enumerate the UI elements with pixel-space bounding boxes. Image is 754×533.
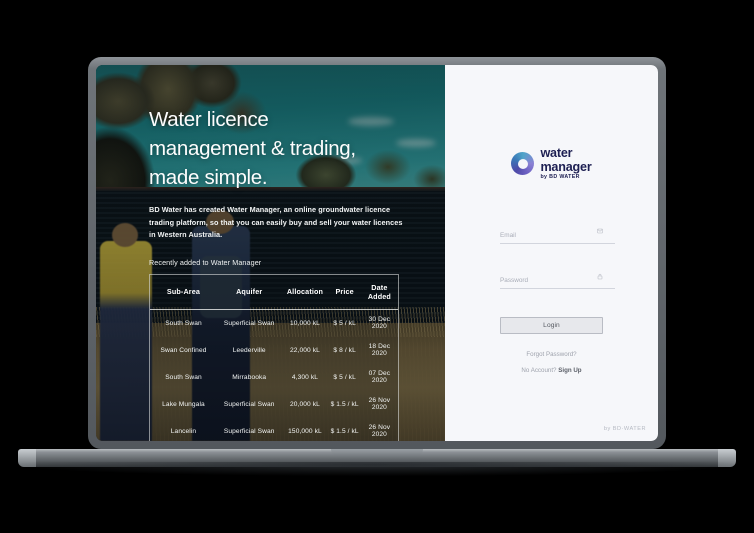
cell-date-added: 18 Dec 2020 bbox=[361, 337, 398, 364]
lock-icon bbox=[597, 267, 603, 285]
table-row[interactable]: Swan Confined Leederville 22,000 kL $ 8 … bbox=[150, 337, 398, 364]
table-header-row: Sub-Area Aquifer Allocation Price Date A… bbox=[150, 275, 398, 310]
cell-aquifer: Leederville bbox=[217, 337, 281, 364]
recent-licences-table: Sub-Area Aquifer Allocation Price Date A… bbox=[149, 274, 399, 441]
login-panel: water manager by BD WATER bbox=[445, 65, 658, 441]
screenshot-canvas: Water licence management & trading, made… bbox=[0, 0, 754, 533]
sign-up-link[interactable]: Sign Up bbox=[558, 367, 581, 374]
laptop-screen: Water licence management & trading, made… bbox=[96, 65, 658, 441]
no-account-signup-row[interactable]: No Account? Sign Up bbox=[521, 367, 581, 374]
password-field-wrapper bbox=[500, 269, 603, 289]
hero-content: Water licence management & trading, made… bbox=[96, 65, 445, 441]
cell-aquifer: Mirrabooka bbox=[217, 364, 281, 391]
cell-price: $ 8 / kL bbox=[329, 337, 361, 364]
email-field-wrapper bbox=[500, 224, 603, 244]
cell-aquifer: Superficial Swan bbox=[217, 309, 281, 337]
laptop-mockup: Water licence management & trading, made… bbox=[88, 57, 666, 449]
cell-allocation: 150,000 kL bbox=[281, 418, 328, 441]
table-row[interactable]: Lake Mungala Superficial Swan 20,000 kL … bbox=[150, 391, 398, 418]
cell-sub-area: South Swan bbox=[150, 309, 217, 337]
page-title: Water licence management & trading, made… bbox=[149, 105, 421, 192]
cell-price: $ 1.5 / kL bbox=[329, 391, 361, 418]
column-header-allocation: Allocation bbox=[281, 275, 328, 310]
no-account-label: No Account? bbox=[521, 367, 558, 374]
cell-allocation: 20,000 kL bbox=[281, 391, 328, 418]
cell-date-added: 07 Dec 2020 bbox=[361, 364, 398, 391]
recently-added-label: Recently added to Water Manager bbox=[149, 258, 421, 267]
column-header-date-added: Date Added bbox=[361, 275, 398, 310]
headline-line-1: Water licence bbox=[149, 108, 269, 131]
logo-word-manager: manager bbox=[540, 161, 591, 174]
cell-sub-area: Lake Mungala bbox=[150, 391, 217, 418]
logo-word-water: water bbox=[540, 147, 591, 160]
laptop-drop-shadow bbox=[20, 462, 734, 476]
cell-sub-area: Swan Confined bbox=[150, 337, 217, 364]
column-header-price: Price bbox=[329, 275, 361, 310]
table-row[interactable]: South Swan Superficial Swan 10,000 kL $ … bbox=[150, 309, 398, 337]
cell-date-added: 30 Dec 2020 bbox=[361, 309, 398, 337]
table-row[interactable]: South Swan Mirrabooka 4,300 kL $ 5 / kL … bbox=[150, 364, 398, 391]
cell-aquifer: Superficial Swan bbox=[217, 391, 281, 418]
table-row[interactable]: Lancelin Superficial Swan 150,000 kL $ 1… bbox=[150, 418, 398, 441]
cell-sub-area: Lancelin bbox=[150, 418, 217, 441]
logo-byline: by BD WATER bbox=[540, 175, 591, 180]
hero-description: BD Water has created Water Manager, an o… bbox=[149, 204, 405, 242]
cell-date-added: 26 Nov 2020 bbox=[361, 391, 398, 418]
cell-aquifer: Superficial Swan bbox=[217, 418, 281, 441]
cell-allocation: 22,000 kL bbox=[281, 337, 328, 364]
water-manager-logo: water manager by BD WATER bbox=[511, 147, 591, 180]
cell-date-added: 26 Nov 2020 bbox=[361, 418, 398, 441]
logo-wordmark: water manager by BD WATER bbox=[540, 147, 591, 180]
email-icon bbox=[597, 222, 603, 240]
cell-price: $ 5 / kL bbox=[329, 364, 361, 391]
headline-line-2: management & trading, bbox=[149, 137, 356, 160]
column-header-sub-area: Sub-Area bbox=[150, 275, 217, 310]
cell-price: $ 1.5 / kL bbox=[329, 418, 361, 441]
cell-allocation: 4,300 kL bbox=[281, 364, 328, 391]
laptop-base-notch bbox=[331, 449, 423, 457]
column-header-aquifer: Aquifer bbox=[217, 275, 281, 310]
headline-line-3: made simple. bbox=[149, 166, 267, 189]
cell-price: $ 5 / kL bbox=[329, 309, 361, 337]
login-button[interactable]: Login bbox=[500, 317, 603, 334]
cell-sub-area: South Swan bbox=[150, 364, 217, 391]
cell-allocation: 10,000 kL bbox=[281, 309, 328, 337]
water-droplet-swirl-icon bbox=[511, 152, 534, 175]
forgot-password-link[interactable]: Forgot Password? bbox=[526, 351, 576, 358]
login-panel-footer: by BD·WATER bbox=[604, 426, 646, 432]
hero-panel: Water licence management & trading, made… bbox=[96, 65, 445, 441]
